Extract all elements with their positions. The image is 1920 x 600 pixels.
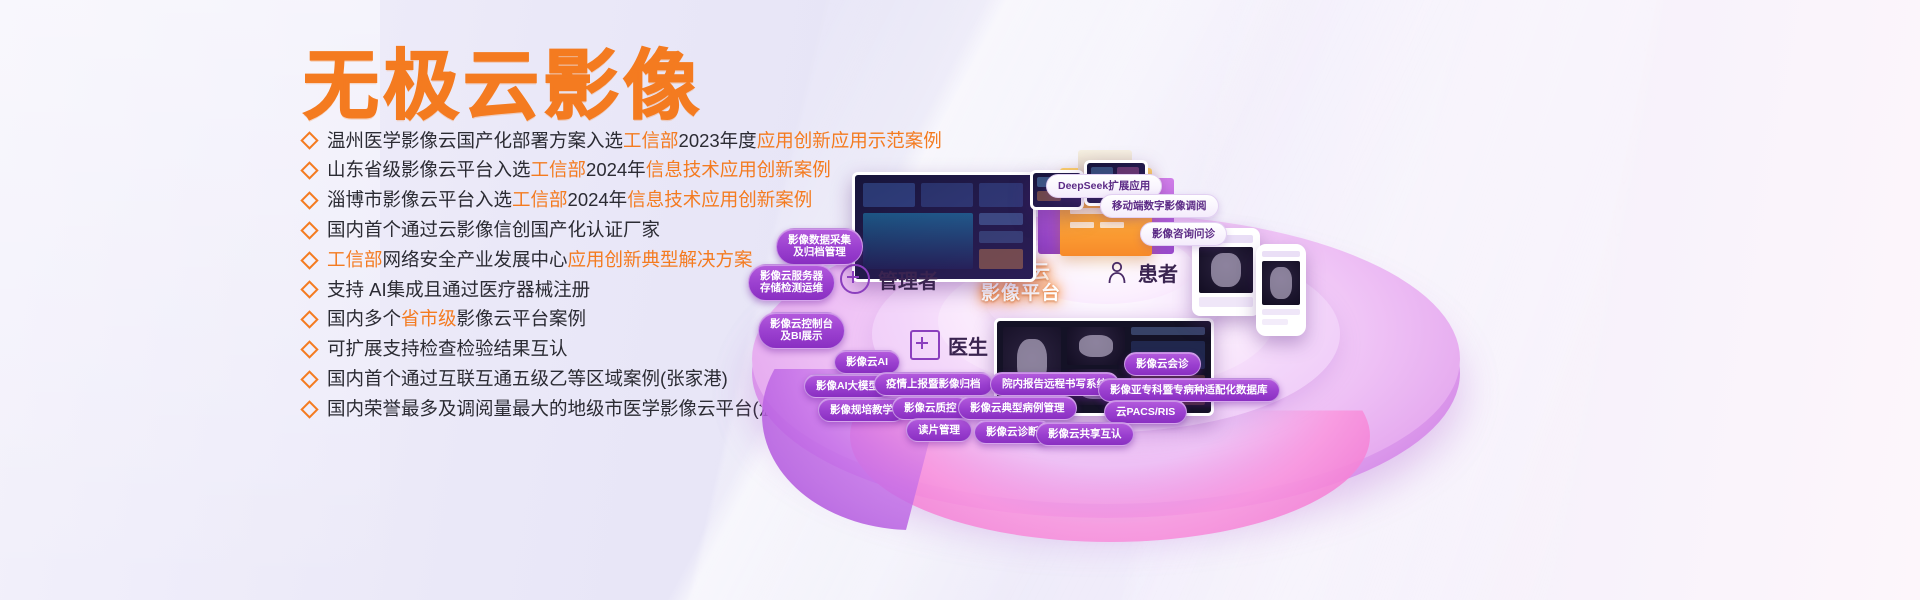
role-doctor-label: 医生 <box>948 331 988 360</box>
diamond-outline-icon <box>300 310 318 328</box>
feature-text-plain: 支持 AI集成且通过医疗器械注册 <box>327 279 590 300</box>
diamond-outline-icon <box>300 340 318 358</box>
diamond-outline-icon <box>300 221 318 239</box>
platform-architecture-diagram: 无极云 影像平台 <box>700 0 1920 600</box>
diamond-outline-icon <box>300 161 318 179</box>
person-icon <box>1104 260 1130 286</box>
feature-item-text: 国内多个省市级影像云平台案例 <box>327 310 586 329</box>
feature-text-highlight: 工信部 <box>327 249 383 270</box>
diamond-outline-icon <box>300 251 318 269</box>
feature-text-plain: 山东省级影像云平台入选 <box>327 159 531 180</box>
diamond-outline-icon <box>300 281 318 299</box>
promo-banner: 无极云影像 温州医学影像云国产化部署方案入选工信部2023年度应用创新应用示范案… <box>0 0 1920 600</box>
diamond-outline-icon <box>300 370 318 388</box>
tag-bm-2[interactable]: 读片管理 <box>906 418 972 442</box>
diamond-outline-icon <box>300 400 318 418</box>
role-doctor: 医生 <box>910 330 988 360</box>
tag-br-3[interactable]: 影像云共享互认 <box>1036 422 1134 446</box>
tag-bm-0[interactable]: 疫情上报暨影像归档 <box>874 372 993 396</box>
role-administrator: 管理者 <box>840 264 938 294</box>
tag-tr-1[interactable]: 移动端数字影像调阅 <box>1100 194 1219 218</box>
tag-left-0[interactable]: 影像数据采集及归档管理 <box>776 228 863 265</box>
center-label-line2: 影像平台 <box>956 283 1086 304</box>
tag-br-0[interactable]: 影像云会诊 <box>1124 352 1201 376</box>
diamond-outline-icon <box>300 132 318 150</box>
diamond-outline-icon <box>300 191 318 209</box>
feature-item-text: 可扩展支持检查检验结果互认 <box>327 340 568 359</box>
feature-item-text: 工信部网络安全产业发展中心应用创新典型解决方案 <box>327 251 753 270</box>
tag-bc-1[interactable]: 影像云典型病例管理 <box>958 396 1077 420</box>
feature-text-plain: 国内首个通过云影像信创国产化认证厂家 <box>327 219 660 240</box>
feature-text-plain: 网络安全产业发展中心 <box>383 249 568 270</box>
tag-bl-0[interactable]: 影像云AI <box>834 350 900 374</box>
tag-br-1[interactable]: 影像亚专科暨专病种适配化数据库 <box>1098 378 1280 402</box>
feature-text-plain: 2024年 <box>568 189 628 210</box>
feature-text-highlight: 省市级 <box>401 308 457 329</box>
feature-item-text: 国内首个通过云影像信创国产化认证厂家 <box>327 221 660 240</box>
feature-text-highlight: 工信部 <box>623 130 679 151</box>
role-patient-label: 患者 <box>1138 258 1178 287</box>
feature-item-text: 国内首个通过互联互通五级乙等区域案例(张家港) <box>327 370 728 389</box>
tag-tr-2[interactable]: 影像咨询问诊 <box>1140 222 1227 246</box>
feature-text-plain: 国内首个通过互联互通五级乙等区域案例(张家港) <box>327 368 728 389</box>
feature-text-plain: 淄博市影像云平台入选 <box>327 189 512 210</box>
feature-text-highlight: 工信部 <box>512 189 568 210</box>
page-title: 无极云影像 <box>303 24 703 134</box>
medical-record-icon <box>910 330 940 360</box>
feature-text-plain: 国内多个 <box>327 308 401 329</box>
feature-text-highlight: 工信部 <box>531 159 587 180</box>
feature-text-plain: 影像云平台案例 <box>457 308 587 329</box>
role-administrator-label: 管理者 <box>878 265 938 294</box>
feature-text-plain: 可扩展支持检查检验结果互认 <box>327 338 568 359</box>
circle-plus-icon <box>840 264 870 294</box>
patient-phone-mockup <box>1256 244 1306 336</box>
role-patient: 患者 <box>1104 258 1178 287</box>
tag-br-2[interactable]: 云PACS/RIS <box>1104 400 1187 424</box>
feature-text-plain: 温州医学影像云国产化部署方案入选 <box>327 130 623 151</box>
tag-left-2[interactable]: 影像云控制台及BI展示 <box>758 312 845 349</box>
feature-text-plain: 2024年 <box>586 159 646 180</box>
feature-item-text: 支持 AI集成且通过医疗器械注册 <box>327 281 590 300</box>
tag-left-1[interactable]: 影像云服务器存储检测运维 <box>748 264 835 301</box>
